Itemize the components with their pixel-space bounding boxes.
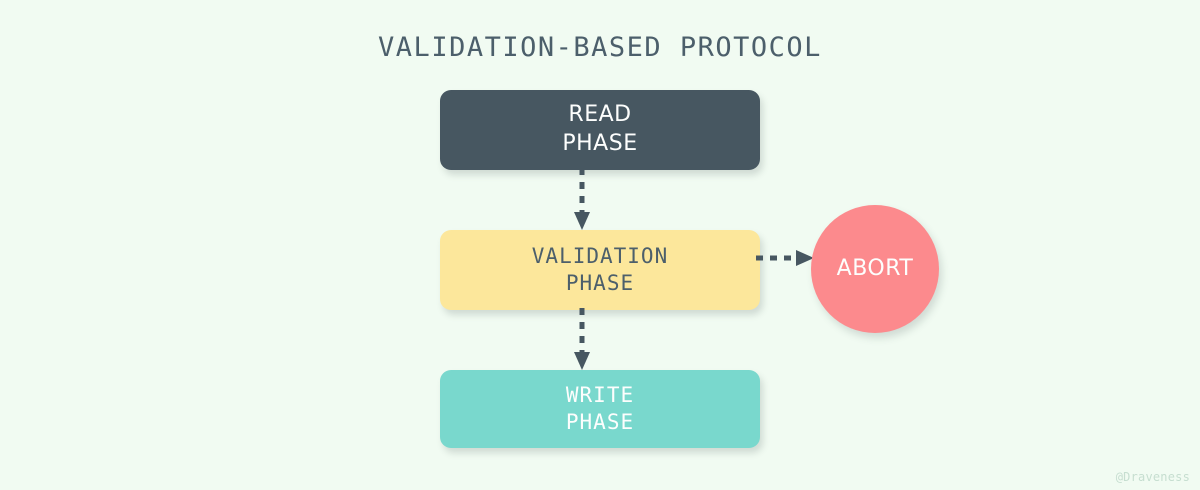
node-read-phase-line2: PHASE xyxy=(562,130,637,159)
node-abort[interactable]: ABORT xyxy=(811,205,939,333)
page-title: VALIDATION-BASED PROTOCOL xyxy=(0,32,1200,63)
edge-read-to-validation xyxy=(572,168,592,232)
diagram-canvas: VALIDATION-BASED PROTOCOL READ PHASE VAL… xyxy=(0,0,1200,490)
node-abort-label: ABORT xyxy=(837,255,914,284)
arrowhead-icon xyxy=(574,352,590,370)
node-write-phase-line1: WRITE xyxy=(566,382,634,409)
node-validation-phase-line2: PHASE xyxy=(566,270,634,297)
node-read-phase-line1: READ xyxy=(568,101,631,130)
edge-validation-to-abort xyxy=(756,248,818,268)
node-write-phase[interactable]: WRITE PHASE xyxy=(440,370,760,448)
arrowhead-icon xyxy=(574,212,590,230)
edge-validation-to-write xyxy=(572,308,592,372)
node-validation-phase-line1: VALIDATION xyxy=(532,243,668,270)
node-read-phase[interactable]: READ PHASE xyxy=(440,90,760,170)
node-write-phase-line2: PHASE xyxy=(566,409,634,436)
node-validation-phase[interactable]: VALIDATION PHASE xyxy=(440,230,760,310)
watermark: @Draveness xyxy=(1116,470,1190,484)
